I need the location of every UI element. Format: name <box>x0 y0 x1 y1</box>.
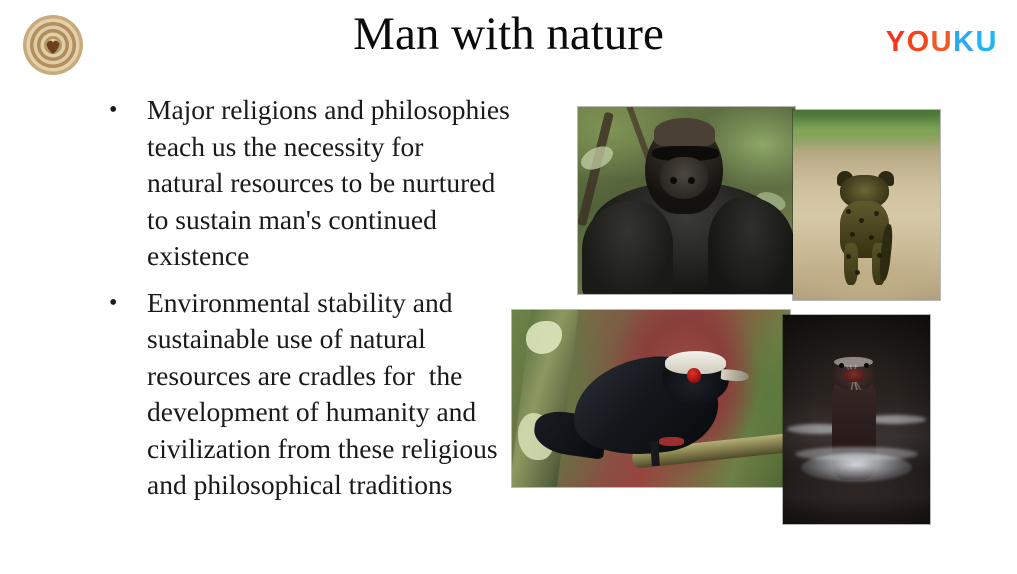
bullet-line: to sustain man's continued <box>147 202 571 239</box>
jaguar-photo <box>793 110 940 300</box>
bullet-line: Major religions and philosophies <box>147 92 571 129</box>
presentation-slide: YOUKU Man with nature • Major religions … <box>0 0 1017 574</box>
otter-vignette <box>783 315 930 524</box>
bullet-item: • Environmental stability and sustainabl… <box>101 285 571 504</box>
bullet-line: Environmental stability and <box>147 285 571 322</box>
jaguar-spot <box>855 270 860 275</box>
jaguar-spot <box>874 211 879 216</box>
bullet-marker: • <box>109 285 117 322</box>
gorilla-nostril-left <box>670 177 677 184</box>
bird-eye <box>687 368 701 382</box>
otter-photo <box>783 315 930 524</box>
jaguar-spot <box>846 209 851 214</box>
bullet-line: and philosophical traditions <box>147 467 571 504</box>
bullet-item: • Major religions and philosophies teach… <box>101 92 571 275</box>
slide-title: Man with nature <box>0 7 1017 61</box>
gorilla-shoulder-left <box>582 201 673 295</box>
bird-foot <box>659 437 684 446</box>
bullet-line: resources are cradles for the <box>147 358 571 395</box>
bullet-line: existence <box>147 238 571 275</box>
bullet-line: sustainable use of natural <box>147 321 571 358</box>
bullet-line: civilization from these religious <box>147 431 571 468</box>
jaguar-foliage-blur <box>793 110 940 140</box>
bullet-line: natural resources to be nurtured <box>147 165 571 202</box>
slide-body: • Major religions and philosophies teach… <box>101 92 571 514</box>
jaguar-spot <box>877 253 882 258</box>
gorilla-crest <box>654 118 715 146</box>
jaguar-spot <box>850 232 855 237</box>
bullet-line: teach us the necessity for <box>147 129 571 166</box>
gorilla-photo <box>578 107 795 294</box>
jaguar-foreleg-left <box>844 243 857 285</box>
bullet-line: development of humanity and <box>147 394 571 431</box>
gorilla-nostril-right <box>688 177 695 184</box>
bird-leg <box>650 441 660 466</box>
gorilla-face <box>660 157 708 198</box>
manakin-bird-photo <box>512 310 790 487</box>
bullet-marker: • <box>109 92 117 129</box>
